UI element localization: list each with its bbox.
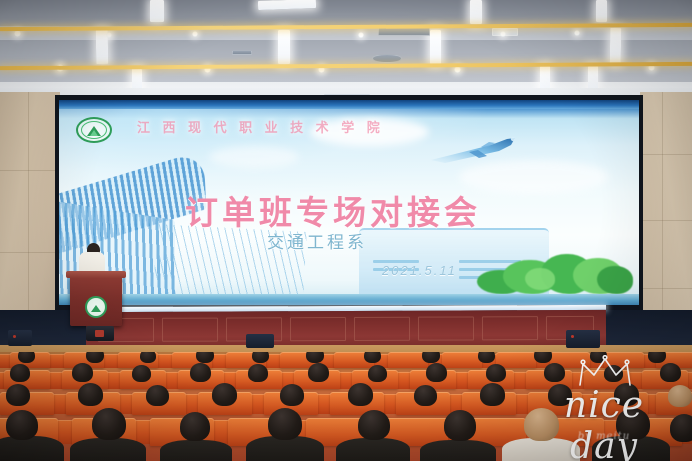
led-screen-display: 江 西 现 代 职 业 技 术 学 院	[59, 100, 639, 305]
school-seal-icon	[76, 117, 112, 143]
audience-seating-area	[0, 352, 692, 461]
audience-head	[6, 384, 30, 406]
airplane-icon	[429, 136, 525, 166]
audience-head	[212, 383, 237, 406]
audience-head	[480, 383, 505, 406]
ceiling-air-vent	[232, 50, 252, 55]
audience-head	[670, 414, 692, 442]
ceiling-air-vent	[372, 54, 402, 63]
audience-head	[364, 352, 381, 363]
stage-panel-section	[354, 317, 410, 341]
ceiling-downlight	[500, 31, 506, 37]
ceiling-led-panel	[610, 28, 622, 64]
audience-head	[146, 385, 169, 406]
audience-head	[668, 385, 692, 407]
wall-seam	[0, 170, 60, 171]
audience-head	[308, 363, 329, 382]
audience-head	[6, 410, 38, 440]
audience-shoulders	[0, 436, 64, 461]
seat	[442, 352, 482, 368]
audience-head	[196, 352, 214, 363]
audience-head	[486, 364, 506, 382]
audience-head	[368, 365, 387, 382]
audience-head	[72, 363, 93, 382]
audience-head	[422, 352, 440, 363]
stage-monitor-speaker	[8, 330, 32, 346]
audience-head	[614, 383, 639, 406]
tree-cluster	[525, 268, 555, 290]
ceiling-band-upper	[0, 0, 692, 26]
podium	[70, 276, 122, 326]
slide-subtitle: 交通工程系	[267, 228, 367, 253]
audience-head	[524, 408, 559, 441]
audience-head	[78, 383, 103, 406]
audience-shoulders	[70, 438, 146, 461]
audience-head	[140, 352, 156, 363]
audience-head	[268, 408, 302, 440]
audience-head	[248, 364, 268, 382]
ceiling-downlight	[192, 31, 198, 37]
ceiling-downlight	[106, 32, 112, 38]
stage-monitor-speaker	[246, 334, 274, 348]
ceiling	[0, 0, 692, 92]
wall-seam	[640, 220, 692, 221]
stage-monitor-speaker	[566, 330, 600, 348]
monitor-led	[13, 335, 16, 338]
audience-head	[358, 410, 390, 440]
monitor-led	[571, 335, 574, 338]
stage-panel-section	[290, 317, 346, 341]
audience-head	[180, 412, 210, 441]
ceiling-led-panel	[588, 66, 598, 90]
ceiling-downlight	[574, 30, 580, 36]
stage-panel-section	[418, 316, 474, 340]
audience-shoulders	[502, 438, 580, 461]
audience-head	[306, 352, 324, 363]
ceiling-led-panel	[132, 68, 142, 90]
slide-bottom-band	[59, 294, 639, 305]
podium-equipment	[86, 326, 114, 341]
audience-head	[616, 408, 650, 440]
slide-title: 订单班专场对接会	[185, 186, 481, 234]
audience-head	[414, 385, 437, 406]
wall-seam	[640, 288, 692, 289]
ceiling-led-panel	[278, 30, 290, 64]
audience-head	[86, 352, 104, 363]
cloud-shape	[209, 146, 299, 168]
audience-head	[426, 363, 447, 382]
audience-head	[534, 352, 552, 363]
audience-head	[544, 363, 565, 382]
audience-head	[478, 352, 495, 363]
audience-head	[10, 364, 30, 382]
audience-head	[648, 352, 666, 363]
slide-institution-name: 江 西 现 代 职 业 技 术 学 院	[137, 117, 384, 136]
wall-seam	[640, 154, 692, 155]
audience-head	[18, 352, 35, 363]
audience-shoulders	[336, 438, 410, 461]
ceiling-downlight	[14, 30, 21, 37]
ceiling-led-panel	[596, 0, 607, 22]
audience-head	[348, 383, 373, 406]
ceiling-led-panel	[540, 66, 550, 90]
audience-head	[132, 365, 151, 382]
slide-top-band	[59, 100, 639, 109]
slide-date: 2021.5.11	[382, 263, 457, 278]
audience-shoulders	[160, 440, 232, 461]
tree-cluster	[597, 266, 633, 294]
ceiling-led-panel	[150, 0, 164, 22]
podium-seal-icon	[85, 296, 107, 318]
podium-top-surface	[66, 271, 126, 278]
audience-head	[190, 363, 211, 382]
audience-head	[92, 408, 126, 440]
stage-panel-section	[162, 318, 218, 342]
audience-head	[280, 384, 304, 406]
audience-head	[604, 365, 623, 382]
wall-seam	[0, 252, 60, 253]
slide-trees-graphic	[469, 248, 629, 294]
ceiling-led-panel	[470, 0, 482, 24]
ceiling-led-panel	[430, 30, 441, 64]
stage-panel-section	[482, 316, 538, 340]
seal-mountain-highlight	[90, 130, 98, 136]
audience-head	[660, 363, 681, 382]
auditorium-photo: 江 西 现 代 职 业 技 术 学 院	[0, 0, 692, 461]
audience-shoulders	[420, 440, 496, 461]
audience-head	[548, 384, 572, 406]
stage-front-panel	[86, 310, 606, 348]
ceiling-downlight	[358, 32, 364, 38]
led-screen-bezel: 江 西 现 代 职 业 技 术 学 院	[55, 95, 643, 310]
audience-head	[444, 410, 476, 441]
audience-head	[252, 352, 269, 363]
audience-head	[590, 352, 607, 363]
